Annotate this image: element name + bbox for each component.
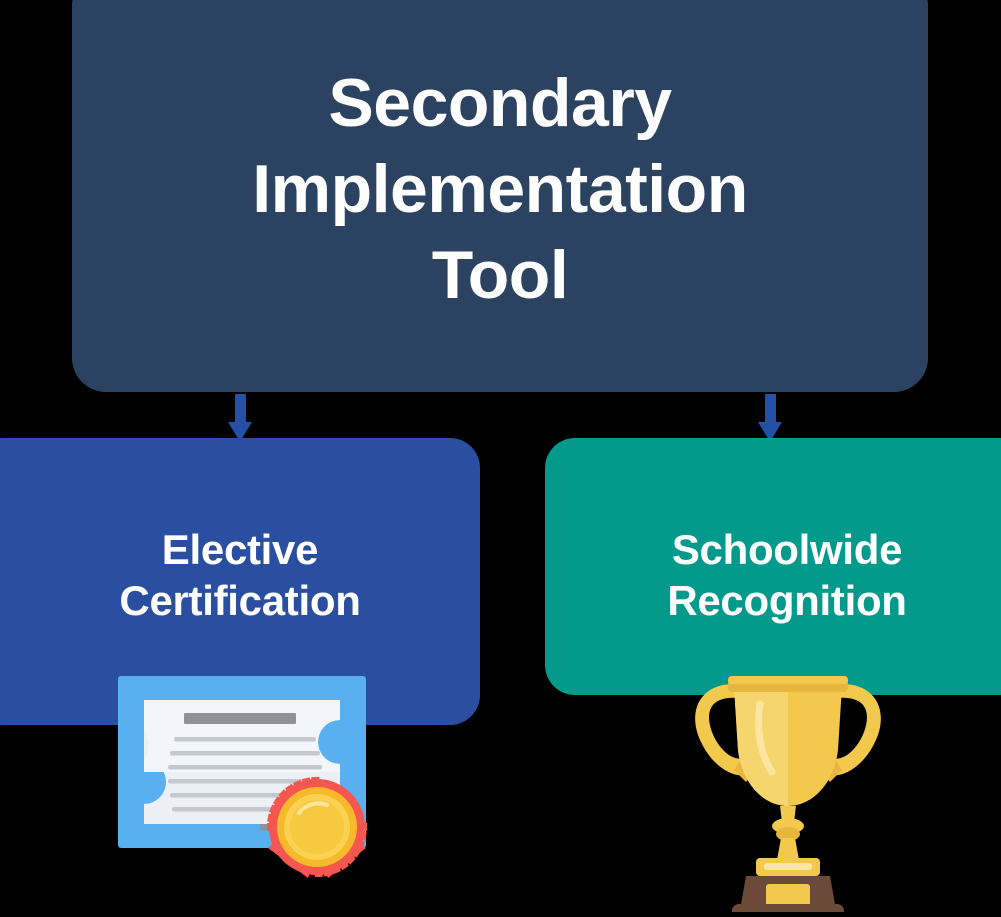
root-node-secondary-implementation-tool[interactable]: Secondary Implementation Tool [72,0,928,392]
child-title-line-2: Certification [119,575,360,626]
child-node-schoolwide-recognition[interactable]: Schoolwide Recognition [545,438,1001,695]
child-title-line-2: Recognition [667,575,906,626]
root-node-title-line-3: Tool [252,233,748,319]
child-node-title-elective-certification: Elective Certification [91,438,360,626]
arrow-shaft [235,394,246,424]
child-title-line-1: Elective [119,524,360,575]
trophy-icon [680,662,896,912]
certificate-icon [118,672,398,912]
diagram-canvas: Secondary Implementation Tool Elective C… [0,0,1001,914]
root-node-title: Secondary Implementation Tool [222,61,778,318]
root-node-title-line-1: Secondary [252,61,748,147]
arrow-down-icon-to-elective-certification [228,394,252,442]
root-node-title-line-2: Implementation [252,147,748,233]
arrow-shaft [765,394,776,424]
child-title-line-1: Schoolwide [667,524,906,575]
child-node-title-schoolwide-recognition: Schoolwide Recognition [667,438,906,626]
arrow-down-icon-to-schoolwide-recognition [758,394,782,442]
